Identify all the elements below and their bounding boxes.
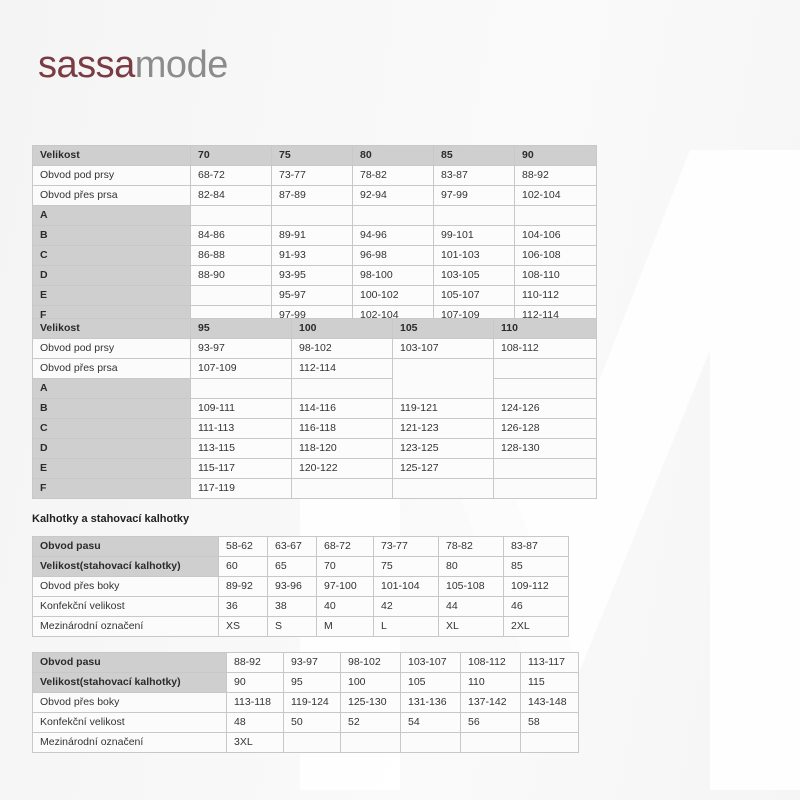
measurement-cell: M	[317, 617, 374, 637]
measurement-cell: 104-106	[515, 226, 597, 246]
measurement-cell: XS	[219, 617, 268, 637]
measurement-cell: 98-102	[341, 653, 401, 673]
row-label: Obvod pod prsy	[33, 339, 191, 359]
measurement-cell: 75	[374, 557, 439, 577]
measurement-cell: 113-117	[521, 653, 579, 673]
measurement-cell: 103-105	[434, 266, 515, 286]
measurement-cell: 54	[401, 713, 461, 733]
row-label: Obvod pod prsy	[33, 166, 191, 186]
bra-table-2-body: Velikost95100105110Obvod pod prsy93-9798…	[33, 319, 597, 499]
measurement-cell-empty	[494, 479, 597, 499]
row-label: B	[33, 226, 191, 246]
table-row: A	[33, 379, 597, 399]
measurement-cell: 42	[374, 597, 439, 617]
measurement-cell: 118-120	[292, 439, 393, 459]
measurement-cell: 98-102	[292, 339, 393, 359]
table-row: Velikost(stahovací kalhotky)606570758085	[33, 557, 569, 577]
row-label: Mezinárodní označení	[33, 617, 219, 637]
row-label: D	[33, 266, 191, 286]
measurement-cell: 52	[341, 713, 401, 733]
row-label: Mezinárodní označení	[33, 733, 227, 753]
table-row: D113-115118-120123-125128-130	[33, 439, 597, 459]
measurement-cell-empty	[284, 733, 341, 753]
measurement-cell: 94-96	[353, 226, 434, 246]
measurement-cell: 131-136	[401, 693, 461, 713]
measurement-cell: 115-117	[191, 459, 292, 479]
logo-text-secondary: mode	[135, 44, 228, 86]
measurement-cell: 105-107	[434, 286, 515, 306]
measurement-cell: 120-122	[292, 459, 393, 479]
measurement-cell: 108-110	[515, 266, 597, 286]
table-header-row: Velikost95100105110	[33, 319, 597, 339]
measurement-cell: 110-112	[515, 286, 597, 306]
measurement-cell: 44	[439, 597, 504, 617]
measurement-cell-empty	[292, 379, 393, 399]
size-chart-page: sassamode Velikost7075808590Obvod pod pr…	[0, 0, 800, 800]
measurement-cell: 58-62	[219, 537, 268, 557]
measurement-cell: 70	[317, 557, 374, 577]
measurement-cell: 119-121	[393, 399, 494, 419]
row-label: Obvod přes boky	[33, 577, 219, 597]
measurement-cell: 97-99	[434, 186, 515, 206]
measurement-cell: 89-91	[272, 226, 353, 246]
briefs-size-table-large: Obvod pasu88-9293-9798-102103-107108-112…	[32, 652, 579, 753]
measurement-cell: 106-108	[515, 246, 597, 266]
row-label: Obvod přes prsa	[33, 186, 191, 206]
measurement-cell-empty	[292, 479, 393, 499]
column-header-size: 80	[353, 146, 434, 166]
measurement-cell-empty	[515, 206, 597, 226]
measurement-cell: 88-92	[227, 653, 284, 673]
measurement-cell: 108-112	[494, 339, 597, 359]
table-row: B84-8689-9194-9699-101104-106	[33, 226, 597, 246]
measurement-cell-empty	[401, 733, 461, 753]
measurement-cell: 40	[317, 597, 374, 617]
bra-table-1-body: Velikost7075808590Obvod pod prsy68-7273-…	[33, 146, 597, 326]
measurement-cell: 126-128	[494, 419, 597, 439]
row-label: Obvod přes boky	[33, 693, 227, 713]
measurement-cell: 99-101	[434, 226, 515, 246]
measurement-cell: 73-77	[272, 166, 353, 186]
measurement-cell: S	[268, 617, 317, 637]
bra-size-table-large: Velikost95100105110Obvod pod prsy93-9798…	[32, 318, 597, 499]
measurement-cell: 65	[268, 557, 317, 577]
row-label: Velikost(stahovací kalhotky)	[33, 673, 227, 693]
measurement-cell: 102-104	[515, 186, 597, 206]
measurement-cell: 100-102	[353, 286, 434, 306]
measurement-cell: 56	[461, 713, 521, 733]
measurement-cell: 3XL	[227, 733, 284, 753]
measurement-cell: L	[374, 617, 439, 637]
column-header-size: 105	[393, 319, 494, 339]
table-row: E115-117120-122125-127	[33, 459, 597, 479]
measurement-cell: 108-112	[461, 653, 521, 673]
briefs-size-table-small: Obvod pasu58-6263-6768-7273-7778-8283-87…	[32, 536, 569, 637]
table-row: Obvod přes prsa82-8487-8992-9497-99102-1…	[33, 186, 597, 206]
measurement-cell: 110	[461, 673, 521, 693]
row-label: F	[33, 479, 191, 499]
measurement-cell-empty	[191, 379, 292, 399]
measurement-cell: 80	[439, 557, 504, 577]
measurement-cell: 38	[268, 597, 317, 617]
measurement-cell: 88-90	[191, 266, 272, 286]
table-row: F117-119	[33, 479, 597, 499]
measurement-cell: 125-127	[393, 459, 494, 479]
measurement-cell: 78-82	[439, 537, 504, 557]
measurement-cell: 143-148	[521, 693, 579, 713]
measurement-cell: 85	[504, 557, 569, 577]
measurement-cell: 103-107	[393, 339, 494, 359]
measurement-cell: 137-142	[461, 693, 521, 713]
column-header-label: Velikost	[33, 319, 191, 339]
measurement-cell: 95-97	[272, 286, 353, 306]
measurement-cell: 97-100	[317, 577, 374, 597]
measurement-cell: 84-86	[191, 226, 272, 246]
table-row: Obvod přes boky113-118119-124125-130131-…	[33, 693, 579, 713]
row-label: A	[33, 206, 191, 226]
table-row: C86-8891-9396-98101-103106-108	[33, 246, 597, 266]
measurement-cell-empty	[353, 206, 434, 226]
measurement-cell-empty	[191, 286, 272, 306]
measurement-cell: 36	[219, 597, 268, 617]
row-label: Velikost(stahovací kalhotky)	[33, 557, 219, 577]
measurement-cell: 46	[504, 597, 569, 617]
brand-logo: sassamode	[38, 46, 228, 84]
table-row: Obvod pod prsy93-9798-102103-107108-112	[33, 339, 597, 359]
measurement-cell: 93-95	[272, 266, 353, 286]
row-label: Obvod přes prsa	[33, 359, 191, 379]
column-header-size: 90	[515, 146, 597, 166]
measurement-cell: 107-109	[191, 359, 292, 379]
row-label: Konfekční velikost	[33, 713, 227, 733]
measurement-cell: 128-130	[494, 439, 597, 459]
measurement-cell: 86-88	[191, 246, 272, 266]
measurement-cell: 95	[284, 673, 341, 693]
row-label: C	[33, 246, 191, 266]
measurement-cell-empty	[191, 206, 272, 226]
table-row: Konfekční velikost485052545658	[33, 713, 579, 733]
row-label: Konfekční velikost	[33, 597, 219, 617]
row-label: A	[33, 379, 191, 399]
measurement-cell: 60	[219, 557, 268, 577]
measurement-cell-empty	[341, 733, 401, 753]
measurement-cell-empty	[494, 359, 597, 379]
measurement-cell-empty	[494, 459, 597, 479]
measurement-cell: 105	[401, 673, 461, 693]
table-row: E95-97100-102105-107110-112	[33, 286, 597, 306]
measurement-cell: 101-104	[374, 577, 439, 597]
briefs-table-2-body: Obvod pasu88-9293-9798-102103-107108-112…	[33, 653, 579, 753]
measurement-cell: 121-123	[393, 419, 494, 439]
bra-size-table-small: Velikost7075808590Obvod pod prsy68-7273-…	[32, 145, 597, 326]
table-row: Velikost(stahovací kalhotky)909510010511…	[33, 673, 579, 693]
table-row: Obvod přes prsa107-109112-114	[33, 359, 597, 379]
table-row: Konfekční velikost363840424446	[33, 597, 569, 617]
measurement-cell: 2XL	[504, 617, 569, 637]
table-row: Obvod pod prsy68-7273-7778-8283-8788-92	[33, 166, 597, 186]
table-row: Obvod přes boky89-9293-9697-100101-10410…	[33, 577, 569, 597]
measurement-cell: 92-94	[353, 186, 434, 206]
measurement-cell: 113-115	[191, 439, 292, 459]
measurement-cell: 88-92	[515, 166, 597, 186]
measurement-cell: 114-116	[292, 399, 393, 419]
measurement-cell-empty	[521, 733, 579, 753]
table-row: Mezinárodní označeníXSSMLXL2XL	[33, 617, 569, 637]
row-label: Obvod pasu	[33, 537, 219, 557]
measurement-cell: 93-97	[191, 339, 292, 359]
table-row: D88-9093-9598-100103-105108-110	[33, 266, 597, 286]
measurement-cell: 105-108	[439, 577, 504, 597]
row-label: B	[33, 399, 191, 419]
measurement-cell-empty	[494, 379, 597, 399]
measurement-cell: 68-72	[317, 537, 374, 557]
measurement-cell: 93-96	[268, 577, 317, 597]
row-label: C	[33, 419, 191, 439]
measurement-cell-empty	[434, 206, 515, 226]
table-row: B109-111114-116119-121124-126	[33, 399, 597, 419]
measurement-cell: 117-119	[191, 479, 292, 499]
column-header-size: 95	[191, 319, 292, 339]
row-label: D	[33, 439, 191, 459]
measurement-cell: 111-113	[191, 419, 292, 439]
table-row: Obvod pasu58-6263-6768-7273-7778-8283-87	[33, 537, 569, 557]
measurement-cell-empty	[393, 359, 494, 399]
measurement-cell: 82-84	[191, 186, 272, 206]
measurement-cell: 125-130	[341, 693, 401, 713]
logo-text-primary: sassa	[38, 44, 135, 86]
column-header-size: 75	[272, 146, 353, 166]
measurement-cell: 123-125	[393, 439, 494, 459]
measurement-cell: 109-112	[504, 577, 569, 597]
table-row: C111-113116-118121-123126-128	[33, 419, 597, 439]
measurement-cell: 115	[521, 673, 579, 693]
measurement-cell: 58	[521, 713, 579, 733]
column-header-size: 100	[292, 319, 393, 339]
measurement-cell: 50	[284, 713, 341, 733]
measurement-cell: 83-87	[504, 537, 569, 557]
measurement-cell-empty	[393, 479, 494, 499]
measurement-cell: 83-87	[434, 166, 515, 186]
row-label: Obvod pasu	[33, 653, 227, 673]
measurement-cell: 63-67	[268, 537, 317, 557]
measurement-cell: 124-126	[494, 399, 597, 419]
measurement-cell: 119-124	[284, 693, 341, 713]
measurement-cell: 113-118	[227, 693, 284, 713]
measurement-cell-empty	[461, 733, 521, 753]
table-header-row: Velikost7075808590	[33, 146, 597, 166]
column-header-label: Velikost	[33, 146, 191, 166]
measurement-cell: 96-98	[353, 246, 434, 266]
measurement-cell: 112-114	[292, 359, 393, 379]
column-header-size: 70	[191, 146, 272, 166]
measurement-cell: 78-82	[353, 166, 434, 186]
table-row: Mezinárodní označení3XL	[33, 733, 579, 753]
measurement-cell: 68-72	[191, 166, 272, 186]
measurement-cell: 90	[227, 673, 284, 693]
measurement-cell: 100	[341, 673, 401, 693]
measurement-cell: 103-107	[401, 653, 461, 673]
column-header-size: 85	[434, 146, 515, 166]
table-row: Obvod pasu88-9293-9798-102103-107108-112…	[33, 653, 579, 673]
measurement-cell: 98-100	[353, 266, 434, 286]
measurement-cell: 109-111	[191, 399, 292, 419]
measurement-cell: 89-92	[219, 577, 268, 597]
measurement-cell: 48	[227, 713, 284, 733]
row-label: E	[33, 459, 191, 479]
measurement-cell: XL	[439, 617, 504, 637]
table-row: A	[33, 206, 597, 226]
measurement-cell: 93-97	[284, 653, 341, 673]
measurement-cell: 73-77	[374, 537, 439, 557]
measurement-cell: 101-103	[434, 246, 515, 266]
measurement-cell-empty	[272, 206, 353, 226]
row-label: E	[33, 286, 191, 306]
column-header-size: 110	[494, 319, 597, 339]
measurement-cell: 116-118	[292, 419, 393, 439]
measurement-cell: 91-93	[272, 246, 353, 266]
briefs-table-1-body: Obvod pasu58-6263-6768-7273-7778-8283-87…	[33, 537, 569, 637]
section-title-briefs: Kalhotky a stahovací kalhotky	[32, 513, 189, 525]
measurement-cell: 87-89	[272, 186, 353, 206]
